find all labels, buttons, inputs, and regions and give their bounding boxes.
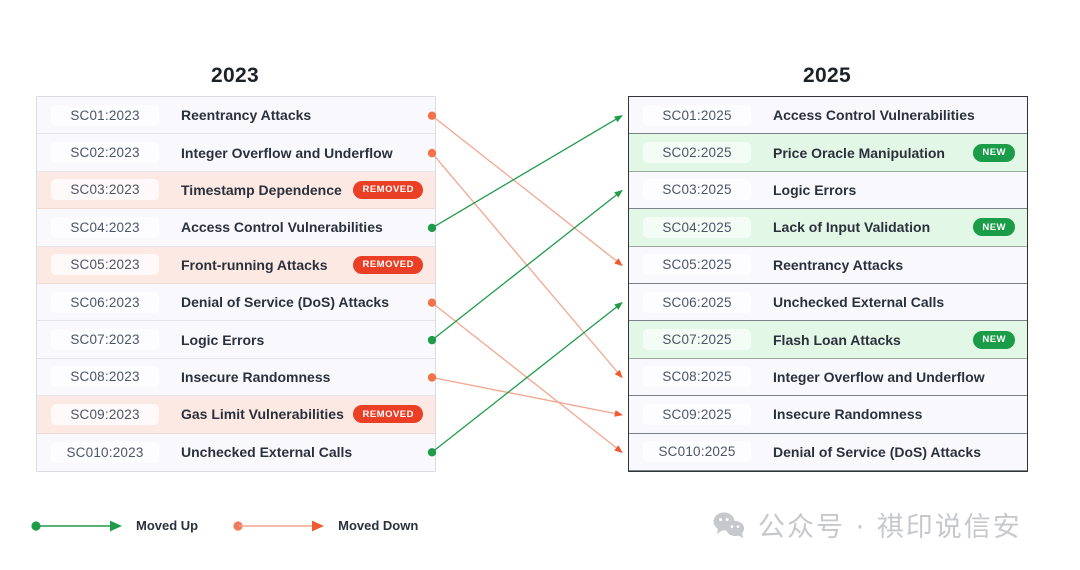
row-code: SC02:2025: [643, 142, 751, 163]
row-label: Price Oracle Manipulation: [773, 145, 945, 161]
table-row[interactable]: SC02:2025Price Oracle ManipulationNEW: [629, 134, 1027, 171]
row-code: SC010:2023: [51, 442, 159, 463]
row-label: Access Control Vulnerabilities: [773, 107, 975, 123]
row-code: SC010:2025: [643, 441, 751, 462]
table-row[interactable]: SC01:2025Access Control Vulnerabilities: [629, 97, 1027, 134]
table-row[interactable]: SC010:2025Denial of Service (DoS) Attack…: [629, 434, 1027, 471]
row-code: SC01:2023: [51, 105, 159, 126]
table-row[interactable]: SC07:2025Flash Loan AttacksNEW: [629, 321, 1027, 358]
legend-label-moved-down: Moved Down: [338, 518, 418, 533]
row-label: Denial of Service (DoS) Attacks: [181, 294, 389, 310]
status-badge-new: NEW: [973, 331, 1015, 349]
row-label: Logic Errors: [773, 182, 856, 198]
status-badge-removed: REMOVED: [353, 256, 423, 274]
row-code: SC09:2023: [51, 404, 159, 425]
wechat-icon: [712, 511, 746, 539]
ranking-table-2023: SC01:2023Reentrancy AttacksSC02:2023Inte…: [36, 96, 436, 472]
status-badge-removed: REMOVED: [353, 181, 423, 199]
table-row[interactable]: SC07:2023Logic Errors: [37, 321, 435, 358]
table-row[interactable]: SC03:2023Timestamp DependenceREMOVED: [37, 172, 435, 209]
row-code: SC09:2025: [643, 404, 751, 425]
row-label: Reentrancy Attacks: [181, 107, 311, 123]
table-row[interactable]: SC02:2023Integer Overflow and Underflow: [37, 134, 435, 171]
status-badge-new: NEW: [973, 144, 1015, 162]
arrow-down-line-icon: [232, 519, 328, 533]
row-code: SC04:2023: [51, 217, 159, 238]
ranking-table-2025: SC01:2025Access Control VulnerabilitiesS…: [628, 96, 1028, 472]
legend-item-moved-up: Moved Up: [30, 518, 198, 533]
table-row[interactable]: SC04:2025Lack of Input ValidationNEW: [629, 209, 1027, 246]
status-badge-removed: REMOVED: [353, 405, 423, 423]
row-label: Insecure Randomness: [181, 369, 330, 385]
table-row[interactable]: SC08:2023Insecure Randomness: [37, 359, 435, 396]
legend-label-moved-up: Moved Up: [136, 518, 198, 533]
connector-moved-down: [432, 153, 622, 377]
row-code: SC05:2025: [643, 254, 751, 275]
row-code: SC04:2025: [643, 217, 751, 238]
watermark-text: 公众号 · 祺印说信安: [758, 505, 1022, 544]
legend-item-moved-down: Moved Down: [232, 518, 418, 533]
connector-moved-up: [432, 191, 622, 341]
arrow-up-line-icon: [30, 519, 126, 533]
table-row[interactable]: SC06:2025Unchecked External Calls: [629, 284, 1027, 321]
row-code: SC08:2023: [51, 366, 159, 387]
row-code: SC07:2025: [643, 329, 751, 350]
row-label: Integer Overflow and Underflow: [773, 369, 985, 385]
table-row[interactable]: SC09:2025Insecure Randomness: [629, 396, 1027, 433]
table-row[interactable]: SC01:2023Reentrancy Attacks: [37, 97, 435, 134]
table-row[interactable]: SC09:2023Gas Limit VulnerabilitiesREMOVE…: [37, 396, 435, 433]
column-title-2025: 2025: [727, 64, 927, 88]
row-code: SC08:2025: [643, 366, 751, 387]
table-row[interactable]: SC08:2025Integer Overflow and Underflow: [629, 359, 1027, 396]
row-label: Integer Overflow and Underflow: [181, 145, 393, 161]
table-row[interactable]: SC06:2023Denial of Service (DoS) Attacks: [37, 284, 435, 321]
row-label: Unchecked External Calls: [773, 294, 944, 310]
connector-moved-down: [432, 378, 622, 415]
connector-moved-up: [432, 116, 622, 228]
row-code: SC06:2025: [643, 292, 751, 313]
row-label: Gas Limit Vulnerabilities: [181, 406, 344, 422]
row-code: SC07:2023: [51, 329, 159, 350]
row-label: Timestamp Dependence: [181, 182, 342, 198]
table-row[interactable]: SC05:2023Front-running AttacksREMOVED: [37, 247, 435, 284]
row-label: Unchecked External Calls: [181, 444, 352, 460]
connector-moved-down: [432, 303, 622, 453]
row-label: Flash Loan Attacks: [773, 332, 901, 348]
row-label: Insecure Randomness: [773, 406, 922, 422]
table-row[interactable]: SC010:2023Unchecked External Calls: [37, 434, 435, 471]
row-code: SC01:2025: [643, 105, 751, 126]
row-code: SC05:2023: [51, 254, 159, 275]
row-label: Access Control Vulnerabilities: [181, 219, 383, 235]
row-label: Denial of Service (DoS) Attacks: [773, 444, 981, 460]
row-code: SC03:2025: [643, 179, 751, 200]
connector-moved-down: [432, 116, 622, 266]
row-code: SC03:2023: [51, 179, 159, 200]
row-code: SC02:2023: [51, 142, 159, 163]
diagram-canvas: 2023 2025 SC01:2023Reentrancy AttacksSC0…: [0, 0, 1080, 570]
row-label: Lack of Input Validation: [773, 219, 930, 235]
watermark: 公众号 · 祺印说信安: [712, 505, 1022, 544]
status-badge-new: NEW: [973, 218, 1015, 236]
row-code: SC06:2023: [51, 292, 159, 313]
table-row[interactable]: SC05:2025Reentrancy Attacks: [629, 247, 1027, 284]
connector-moved-up: [432, 303, 622, 453]
row-label: Front-running Attacks: [181, 257, 327, 273]
legend: Moved Up Moved Down: [30, 518, 418, 533]
column-title-2023: 2023: [135, 64, 335, 88]
table-row[interactable]: SC03:2025Logic Errors: [629, 172, 1027, 209]
row-label: Logic Errors: [181, 332, 264, 348]
table-row[interactable]: SC04:2023Access Control Vulnerabilities: [37, 209, 435, 246]
row-label: Reentrancy Attacks: [773, 257, 903, 273]
